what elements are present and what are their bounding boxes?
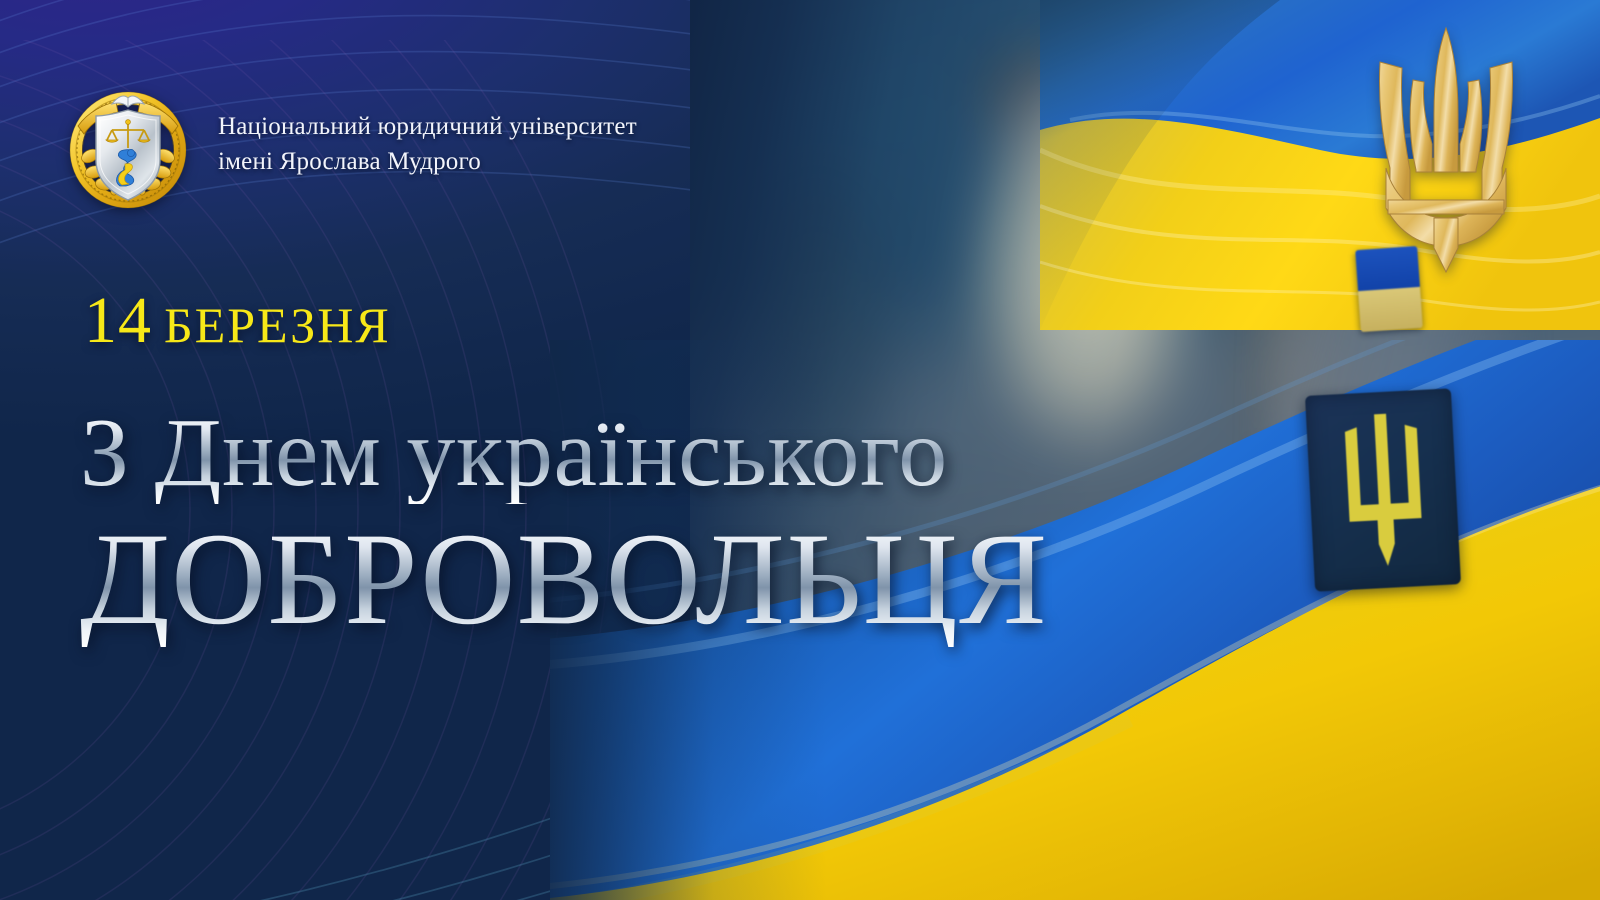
trident-embroidered-patch	[1305, 388, 1461, 591]
greeting-title-line-2: ДОБРОВОЛЬЦЯ	[80, 512, 1048, 647]
brand-name-line-1: Національний юридичний університет	[218, 109, 637, 145]
date-month: БЕРЕЗНЯ	[164, 297, 391, 353]
national-law-university-emblem-icon	[62, 78, 194, 210]
poster-canvas: Національний юридичний університет імені…	[0, 0, 1600, 900]
brand-name-line-2: імені Ярослава Мудрого	[218, 144, 637, 180]
ukraine-trident-coat-of-arms-icon	[1358, 22, 1534, 277]
date-number: 14	[84, 284, 152, 357]
ukraine-flag-shoulder-patch	[1355, 246, 1423, 332]
brand-name: Національний юридичний університет імені…	[218, 109, 637, 180]
brand-lockup: Національний юридичний університет імені…	[62, 78, 637, 210]
date-line: 14БЕРЕЗНЯ	[84, 288, 391, 354]
greeting-title-line-1: З Днем українського	[80, 404, 948, 504]
